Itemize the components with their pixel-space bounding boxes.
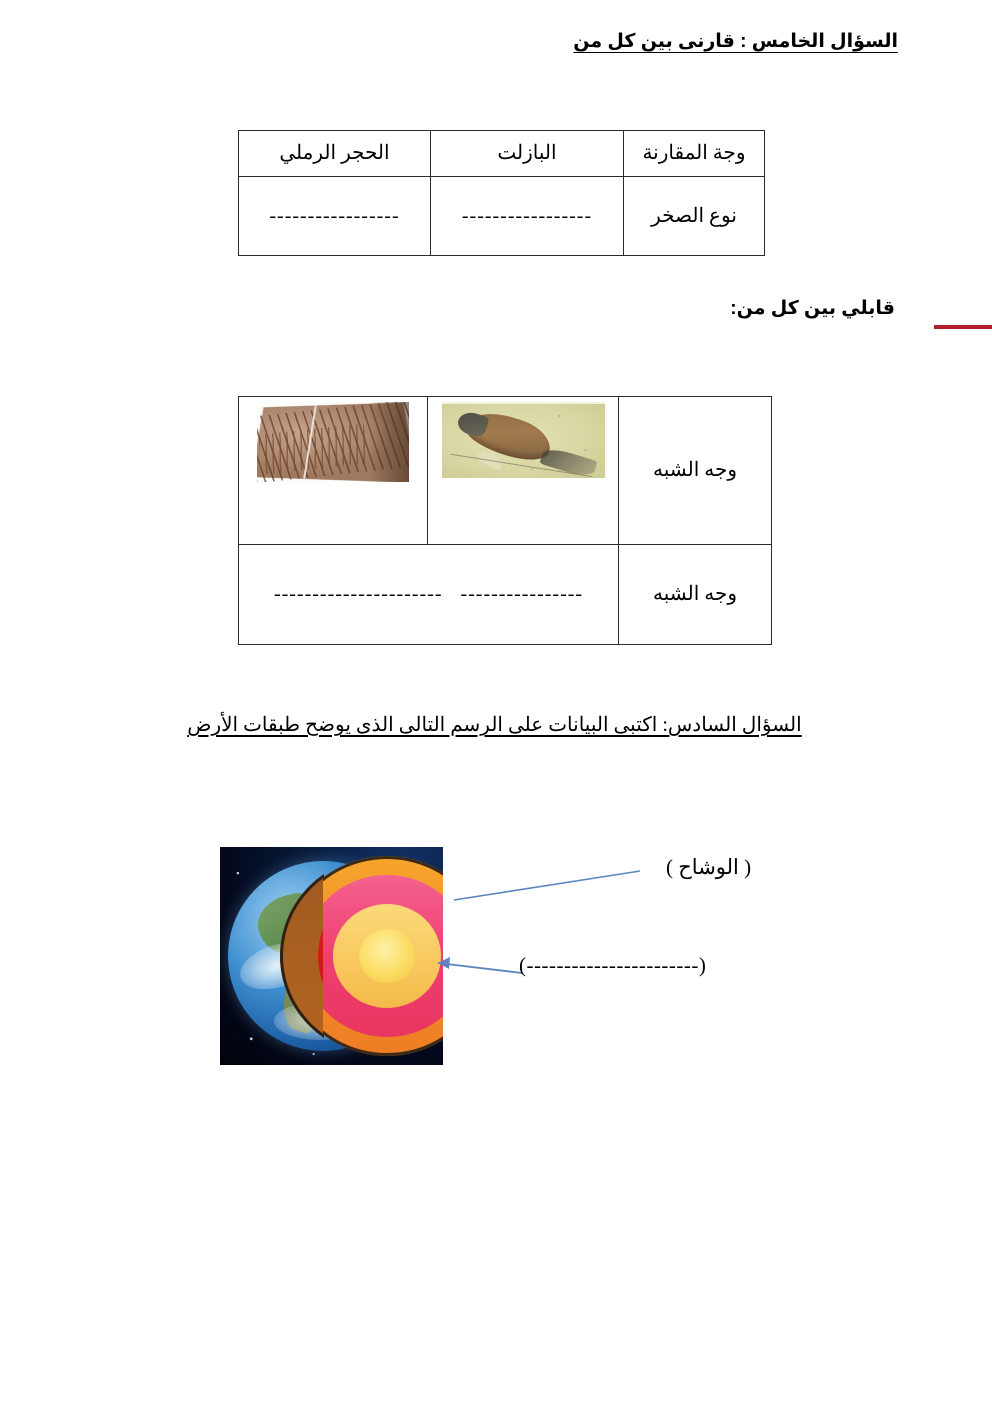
header-text: وجة المقارنة: [624, 141, 764, 166]
cell-sandstone-answer[interactable]: -----------------: [239, 177, 431, 256]
earth-layers-diagram: [220, 847, 443, 1065]
question5b-heading: قابلي بين كل من:: [730, 297, 895, 320]
row-label-text: نوع الصخر: [624, 204, 764, 229]
cell-fish-fossil: [428, 397, 619, 545]
plant-fossil-image: [257, 402, 409, 482]
cell-basalt-answer[interactable]: -----------------: [431, 177, 624, 256]
earth-cutaway: [323, 855, 443, 1057]
question5-heading: السؤال الخامس : قارنى بين كل من: [573, 30, 898, 53]
leader-line-blank: [438, 963, 522, 973]
row-label-text: وجه الشبه: [619, 458, 771, 483]
header-text: الحجر الرملي: [239, 141, 430, 166]
header-cell-basalt: البازلت: [431, 131, 624, 177]
image-slot: [239, 397, 427, 544]
question6-heading: السؤال السادس: اكتبى البيانات على الرسم …: [42, 712, 947, 737]
cell-similarity-label-bottom: وجه الشبه: [619, 545, 772, 645]
header-text: البازلت: [431, 141, 623, 166]
fish-fossil-image: [442, 402, 605, 478]
cell-rock-type-label: نوع الصخر: [624, 177, 765, 256]
rock-comparison-table: وجة المقارنة البازلت الحجر الرملي نوع ال…: [238, 130, 765, 256]
fossil-comparison-table: وجه الشبه: [238, 396, 772, 645]
label-blank[interactable]: (-----------------------): [519, 953, 706, 978]
answer-blank: -----------------: [269, 205, 399, 228]
earth-cross-section-face: [280, 855, 324, 1057]
worksheet-page: السؤال الخامس : قارنى بين كل من وجة المق…: [0, 0, 992, 1403]
answer-blank-b: ----------------------: [274, 583, 443, 606]
red-rule-divider: [934, 325, 992, 329]
table-row: وجة المقارنة البازلت الحجر الرملي: [239, 131, 765, 177]
header-cell-sandstone: الحجر الرملي: [239, 131, 431, 177]
leader-line-mantle: [454, 871, 640, 900]
rock-shadow: [369, 402, 409, 482]
inner-core-layer: [359, 929, 415, 983]
answer-blank-a: ----------------: [460, 583, 583, 606]
label-mantle: ( الوشاح ): [666, 855, 751, 880]
cell-similarity-answers[interactable]: ---------------- ----------------------: [239, 545, 619, 645]
cell-similarity-label-top: وجه الشبه: [619, 397, 772, 545]
answer-blank-group: ---------------- ----------------------: [239, 583, 618, 606]
table-row: نوع الصخر ----------------- ------------…: [239, 177, 765, 256]
row-label-text: وجه الشبه: [619, 582, 771, 607]
header-cell-comparison-aspect: وجة المقارنة: [624, 131, 765, 177]
image-slot: [428, 397, 618, 544]
answer-blank: -----------------: [462, 205, 592, 228]
table-row: وجه الشبه ---------------- -------------…: [239, 545, 772, 645]
cell-plant-fossil: [239, 397, 428, 545]
table-row: وجه الشبه: [239, 397, 772, 545]
